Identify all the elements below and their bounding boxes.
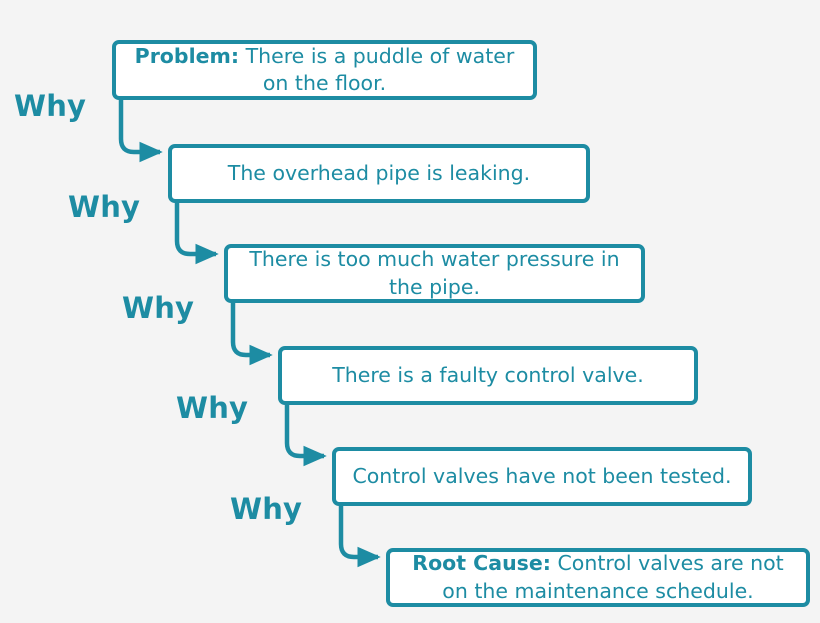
node-why-4-body: Control valves have not been tested. [352,464,731,488]
node-why-2-body: There is too much water pressure in the … [249,247,619,298]
node-root-cause-lead: Root Cause: [412,551,551,575]
node-why-2[interactable]: There is too much water pressure in the … [224,244,645,303]
connector-why4-to-root-cause [341,506,378,557]
node-why-4-text: Control valves have not been tested. [344,463,740,490]
node-why-2-text: There is too much water pressure in the … [236,246,633,300]
connector-why2-to-why3 [233,303,270,355]
node-problem[interactable]: Problem: There is a puddle of water on t… [112,40,537,100]
node-problem-body: There is a puddle of water on the floor. [239,44,514,95]
node-why-3-body: There is a faulty control valve. [332,363,644,387]
connector-why1-to-why2 [177,203,216,254]
node-root-cause[interactable]: Root Cause: Control valves are not on th… [386,548,810,607]
why-label-4: Why [176,394,248,423]
node-why-3[interactable]: There is a faulty control valve. [278,346,698,405]
node-problem-text: Problem: There is a puddle of water on t… [124,43,525,97]
node-why-4[interactable]: Control valves have not been tested. [332,447,752,506]
why-label-1: Why [14,92,86,121]
node-root-cause-text: Root Cause: Control valves are not on th… [398,550,798,604]
node-why-1[interactable]: The overhead pipe is leaking. [168,144,590,203]
node-why-1-body: The overhead pipe is leaking. [228,161,530,185]
node-why-1-text: The overhead pipe is leaking. [180,160,578,187]
why-label-3: Why [122,294,194,323]
connector-problem-to-why1 [121,100,160,152]
five-whys-diagram: Why Why Why Why Why Problem: There is a … [0,0,820,623]
connector-why3-to-why4 [287,405,324,456]
why-label-2: Why [68,193,140,222]
node-why-3-text: There is a faulty control valve. [290,362,686,389]
node-problem-lead: Problem: [135,44,239,68]
why-label-5: Why [230,495,302,524]
